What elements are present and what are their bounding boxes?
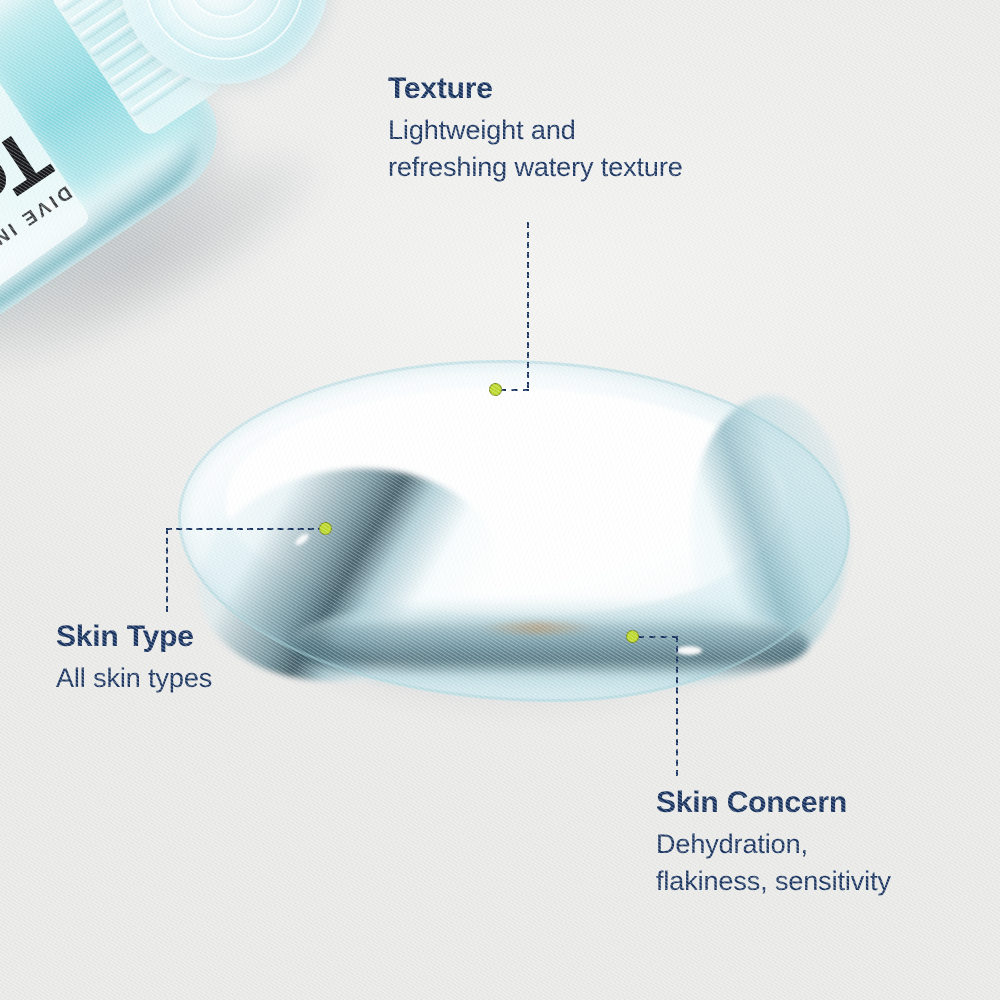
callout-texture-line-2: refreshing watery texture	[388, 149, 808, 186]
callout-skin-type: Skin Type All skin types	[56, 620, 386, 697]
callout-skin-concern: Skin Concern Dehydration, flakiness, sen…	[656, 786, 986, 901]
callout-texture-line-1: Lightweight and	[388, 112, 808, 149]
callout-skin-type-title: Skin Type	[56, 620, 386, 653]
callout-texture-title: Texture	[388, 72, 808, 105]
leader-line-skin-type-vertical	[166, 528, 168, 612]
callout-skin-concern-line-1: Dehydration,	[656, 826, 986, 863]
marker-dot-texture[interactable]	[489, 383, 502, 396]
leader-line-texture-vertical	[527, 222, 529, 388]
leader-line-texture-horizontal	[500, 389, 529, 391]
gel-hotspot	[676, 646, 702, 655]
marker-dot-skin-type[interactable]	[319, 522, 332, 535]
leader-line-skin-type-horizontal	[166, 528, 324, 530]
leader-line-skin-concern-horizontal	[638, 636, 678, 638]
infographic-canvas: DIVE IN Torriden Texture	[0, 0, 1000, 1000]
callout-texture: Texture Lightweight and refreshing water…	[388, 72, 808, 187]
callout-skin-type-line-1: All skin types	[56, 660, 386, 697]
callout-skin-concern-line-2: flakiness, sensitivity	[656, 863, 986, 900]
leader-line-skin-concern-vertical	[676, 636, 678, 776]
marker-dot-skin-concern[interactable]	[626, 630, 639, 643]
callout-skin-concern-title: Skin Concern	[656, 786, 986, 819]
